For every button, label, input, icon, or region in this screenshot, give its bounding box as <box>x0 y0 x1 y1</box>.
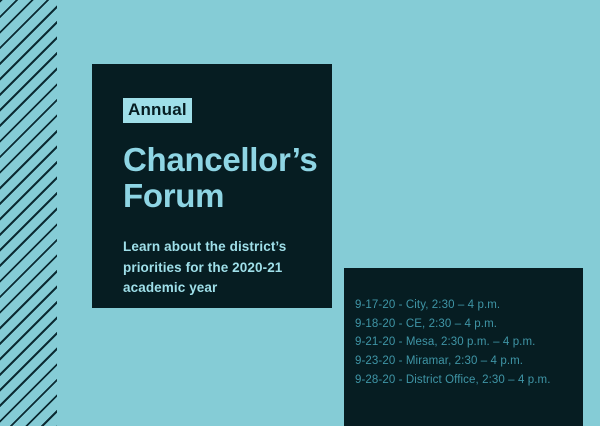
title-line-2: Forum <box>123 177 224 214</box>
main-announcement-card: Annual Chancellor’s Forum Learn about th… <box>92 64 332 308</box>
subtitle-line-3: academic year <box>123 280 217 295</box>
title-line-1: Chancellor’s <box>123 141 317 178</box>
list-item: 9-23-20 - Miramar, 2:30 – 4 p.m. <box>355 352 575 371</box>
schedule-card: 9-17-20 - City, 2:30 – 4 p.m. 9-18-20 - … <box>344 268 583 426</box>
subtitle-line-2: priorities for the 2020-21 <box>123 260 282 275</box>
diagonal-stripe-decoration <box>0 0 57 426</box>
list-item: 9-18-20 - CE, 2:30 – 4 p.m. <box>355 315 575 334</box>
poster-canvas: Annual Chancellor’s Forum Learn about th… <box>0 0 600 426</box>
list-item: 9-17-20 - City, 2:30 – 4 p.m. <box>355 296 575 315</box>
list-item: 9-28-20 - District Office, 2:30 – 4 p.m. <box>355 371 575 390</box>
subtitle: Learn about the district’s priorities fo… <box>123 237 306 298</box>
annual-badge: Annual <box>123 98 192 123</box>
page-title: Chancellor’s Forum <box>123 142 306 213</box>
subtitle-line-1: Learn about the district’s <box>123 239 286 254</box>
list-item: 9-21-20 - Mesa, 2:30 p.m. – 4 p.m. <box>355 333 575 352</box>
